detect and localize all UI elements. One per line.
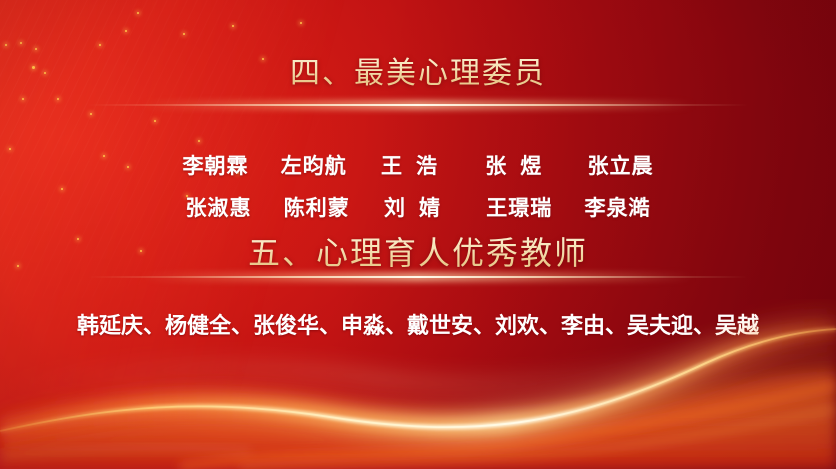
vignette-overlay xyxy=(0,0,836,469)
presentation-slide: 四、最美心理委员 李朝霖 左昀航 王浩 张煜 张立晨 张淑惠 陈利蒙 刘婧 王璟… xyxy=(0,0,836,469)
